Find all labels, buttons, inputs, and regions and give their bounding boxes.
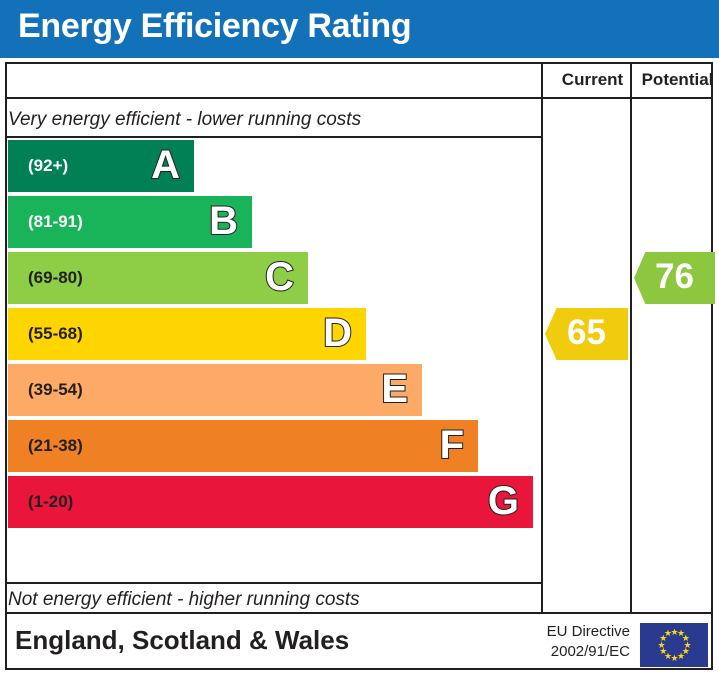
footer-directive: EU Directive 2002/91/EC [520,622,630,662]
band-range-g: (1-20) [28,476,73,528]
caption-inefficient: Not energy efficient - higher running co… [8,589,360,611]
band-letter-c: C [265,252,294,304]
caption-efficient: Very energy efficient - lower running co… [8,109,361,131]
potential-rating-marker: 76 [634,252,715,304]
page-title: Energy Efficiency Rating [18,7,411,46]
footer-country-label: England, Scotland & Wales [15,625,349,656]
directive-line-2: 2002/91/EC [520,642,630,662]
rating-band-f: (21-38)F [8,420,478,472]
divider-bottom [7,582,541,584]
eu-flag-icon: ★★★★★★★★★★★★ [639,622,709,668]
directive-line-1: EU Directive [520,622,630,642]
column-divider-potential [630,62,632,614]
column-header-potential: Potential [637,62,718,97]
rating-band-b: (81-91)B [8,196,252,248]
divider-top [7,136,541,138]
band-letter-b: B [209,196,238,248]
band-range-a: (92+) [28,140,68,192]
band-letter-f: F [440,420,464,472]
energy-efficiency-rating-chart: Energy Efficiency Rating Current Potenti… [0,0,719,675]
rating-band-c: (69-80)C [8,252,308,304]
band-range-d: (55-68) [28,308,83,360]
rating-band-e: (39-54)E [8,364,422,416]
title-banner: Energy Efficiency Rating [0,0,719,58]
band-range-e: (39-54) [28,364,83,416]
band-letter-a: A [151,140,180,192]
current-rating-marker: 65 [545,308,628,360]
band-letter-e: E [381,364,408,416]
column-header-row: Current Potential [5,62,713,99]
band-letter-g: G [488,476,519,528]
column-divider-current [541,62,543,614]
band-range-c: (69-80) [28,252,83,304]
band-range-f: (21-38) [28,420,83,472]
rating-band-g: (1-20)G [8,476,533,528]
band-range-b: (81-91) [28,196,83,248]
rating-band-a: (92+)A [8,140,194,192]
band-letter-d: D [323,308,352,360]
rating-band-d: (55-68)D [8,308,366,360]
column-header-current: Current [548,62,637,97]
eu-flag-star: ★ [664,630,671,637]
